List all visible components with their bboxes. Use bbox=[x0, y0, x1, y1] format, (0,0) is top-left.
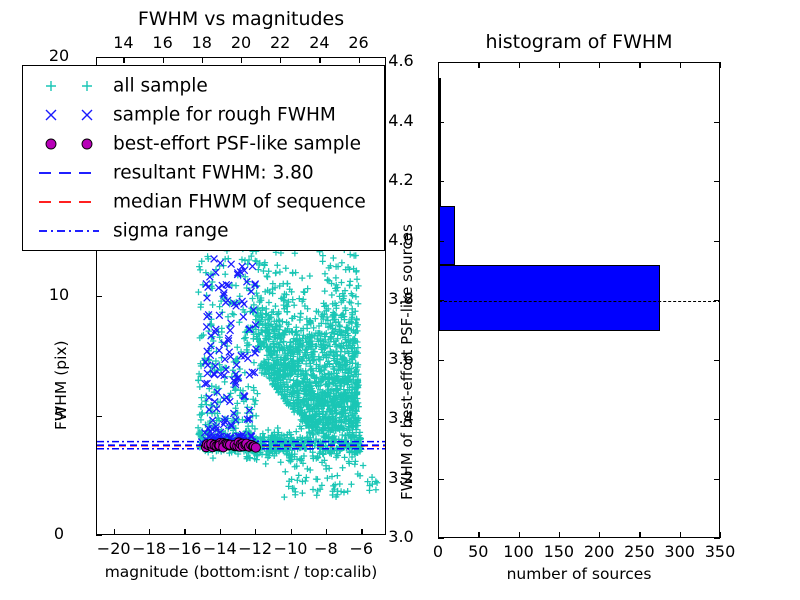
histogram-xtick bbox=[478, 532, 479, 538]
scatter-top-xticklabel: 26 bbox=[334, 33, 384, 52]
histogram-ytick-right bbox=[714, 538, 720, 539]
histogram-title: histogram of FWHM bbox=[438, 31, 720, 53]
scatter-xtick bbox=[149, 529, 150, 535]
legend-marker-plus-icon bbox=[29, 76, 109, 96]
legend-marker-dashdot-line-icon bbox=[29, 221, 109, 241]
legend-label: median FHWM of sequence bbox=[113, 191, 366, 212]
histogram-yticklabel: 3.2 bbox=[372, 468, 430, 487]
legend-entry[interactable]: resultant FWHM: 3.80 bbox=[23, 158, 384, 187]
histogram-ytick-right bbox=[714, 122, 720, 123]
histogram-xtick-top bbox=[599, 62, 600, 68]
scatter-ytick bbox=[96, 296, 102, 297]
histogram-bar bbox=[439, 140, 441, 205]
scatter-top-xtick bbox=[163, 57, 164, 63]
legend-label: sample for rough FWHM bbox=[113, 104, 336, 125]
scatter-xtick bbox=[255, 529, 256, 535]
histogram-xtick bbox=[639, 532, 640, 538]
histogram-ytick bbox=[438, 360, 444, 361]
histogram-xtick-top bbox=[680, 62, 681, 68]
histogram-yticklabel: 3.6 bbox=[372, 349, 430, 368]
histogram-ytick bbox=[438, 122, 444, 123]
histogram-xticklabel: 350 bbox=[690, 542, 750, 561]
histogram-ytick bbox=[438, 538, 444, 539]
legend-label: resultant FWHM: 3.80 bbox=[113, 162, 314, 183]
histogram-xtick bbox=[519, 532, 520, 538]
legend-marker-circle-icon bbox=[29, 134, 109, 154]
legend-label: sigma range bbox=[113, 220, 229, 241]
histogram-bar bbox=[439, 78, 441, 140]
scatter-xtick bbox=[220, 529, 221, 535]
scatter-top-xtick bbox=[319, 57, 320, 63]
scatter-xtick bbox=[114, 529, 115, 535]
histogram-ytick-right bbox=[714, 419, 720, 420]
scatter-xtick bbox=[184, 529, 185, 535]
histogram-ytick bbox=[438, 419, 444, 420]
scatter-ytick bbox=[96, 57, 102, 58]
histogram-xtick bbox=[720, 532, 721, 538]
histogram-xtick bbox=[680, 532, 681, 538]
scatter-title: FWHM vs magnitudes bbox=[96, 8, 386, 30]
legend-entry[interactable]: sample for rough FWHM bbox=[23, 100, 384, 129]
histogram-yticklabel: 3.8 bbox=[372, 289, 430, 308]
histogram-ytick bbox=[438, 181, 444, 182]
histogram-ytick bbox=[438, 62, 444, 63]
scatter-xtick bbox=[291, 529, 292, 535]
histogram-ytick-right bbox=[714, 62, 720, 63]
scatter-yticklabel: 20 bbox=[30, 46, 88, 65]
histogram-xtick bbox=[599, 532, 600, 538]
legend-entry[interactable]: sigma range bbox=[23, 216, 384, 245]
histogram-bar bbox=[439, 206, 455, 266]
legend-entry[interactable]: best-effort PSF-like sample bbox=[23, 129, 384, 158]
histogram-xtick-top bbox=[720, 62, 721, 68]
scatter-yticklabel: 10 bbox=[30, 285, 88, 304]
histogram-plot-area bbox=[439, 63, 719, 537]
matplotlib-figure: FWHM vs magnitudes magnitude (bottom:isn… bbox=[0, 0, 800, 600]
histogram-xlabel: number of sources bbox=[438, 565, 720, 583]
histogram-xtick-top bbox=[519, 62, 520, 68]
legend-marker-dashed-line-icon bbox=[29, 163, 109, 183]
scatter-ytick bbox=[96, 535, 102, 536]
scatter-xlabel: magnitude (bottom:isnt / top:calib) bbox=[56, 563, 426, 581]
legend-marker-dashed-line-icon bbox=[29, 192, 109, 212]
legend-label: all sample bbox=[113, 75, 208, 96]
histogram-ytick bbox=[438, 300, 444, 301]
histogram-ytick-right bbox=[714, 300, 720, 301]
scatter-top-xtick bbox=[241, 57, 242, 63]
legend-entry[interactable]: median FHWM of sequence bbox=[23, 187, 384, 216]
scatter-top-xtick bbox=[280, 57, 281, 63]
histogram-xtick-top bbox=[559, 62, 560, 68]
scatter-yticklabel: 0 bbox=[30, 524, 88, 543]
legend-label: best-effort PSF-like sample bbox=[113, 133, 361, 154]
scatter-xtick bbox=[326, 529, 327, 535]
histogram-xtick bbox=[559, 532, 560, 538]
histogram-bar bbox=[439, 265, 660, 330]
scatter-yticklabel: 5 bbox=[30, 405, 88, 424]
histogram-ytick-right bbox=[714, 360, 720, 361]
scatter-ytick bbox=[96, 416, 102, 417]
histogram-yticklabel: 3.0 bbox=[372, 527, 430, 546]
histogram-resultant-fwhm-line bbox=[439, 301, 719, 302]
histogram-ytick bbox=[438, 241, 444, 242]
legend-box[interactable]: all samplesample for rough FWHMbest-effo… bbox=[22, 65, 385, 251]
scatter-xtick bbox=[361, 529, 362, 535]
histogram-xtick-top bbox=[478, 62, 479, 68]
histogram-axes[interactable] bbox=[438, 62, 720, 538]
histogram-ytick-right bbox=[714, 241, 720, 242]
scatter-top-xtick bbox=[202, 57, 203, 63]
histogram-ytick-right bbox=[714, 479, 720, 480]
scatter-top-xtick bbox=[359, 57, 360, 63]
histogram-ytick bbox=[438, 479, 444, 480]
legend-marker-cross-icon bbox=[29, 105, 109, 125]
histogram-yticklabel: 3.4 bbox=[372, 408, 430, 427]
histogram-ytick-right bbox=[714, 181, 720, 182]
histogram-xtick-top bbox=[639, 62, 640, 68]
legend-entry[interactable]: all sample bbox=[23, 71, 384, 100]
scatter-top-xtick bbox=[123, 57, 124, 63]
